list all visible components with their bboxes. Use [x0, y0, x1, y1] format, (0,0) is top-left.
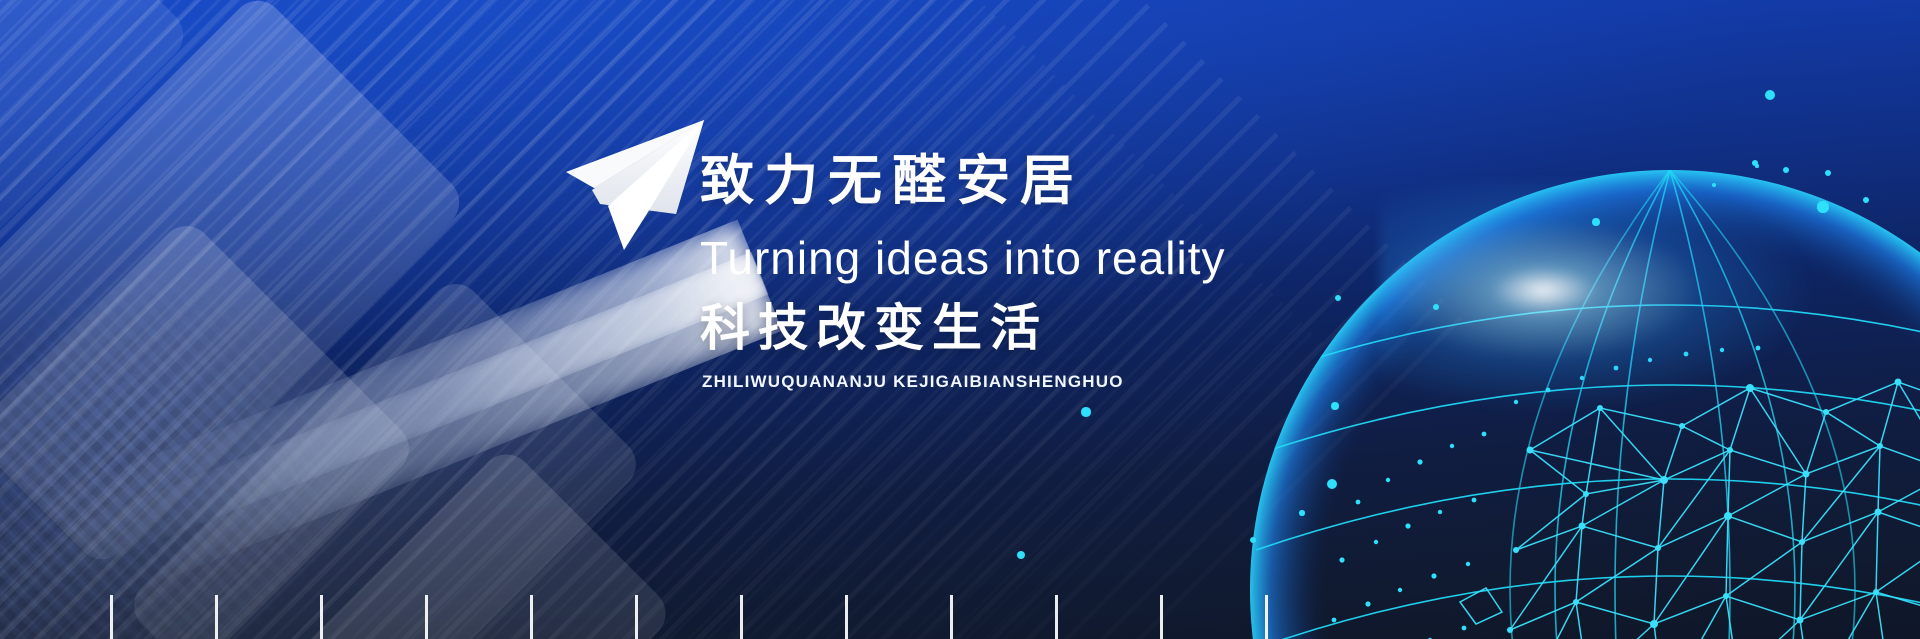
bottom-tick-mark-icon	[740, 595, 743, 639]
floating-particle-icon	[1331, 402, 1338, 409]
floating-particle-icon	[1755, 164, 1758, 167]
bottom-tick-mark-icon	[635, 595, 638, 639]
floating-particle-icon	[1863, 197, 1869, 203]
pinyin-subtitle: ZHILIWUQUANANJU KEJIGAIBIANSHENGHUO	[702, 372, 1340, 392]
floating-particle-icon	[1592, 218, 1599, 225]
hero-banner: 致力无醛安居 Turning ideas into reality 科技改变生活…	[0, 0, 1920, 639]
floating-particle-icon	[1081, 407, 1090, 416]
bottom-tick-mark-icon	[530, 595, 533, 639]
bottom-tick-mark-icon	[110, 595, 113, 639]
bottom-tick-mark-icon	[215, 595, 218, 639]
banner-copy: 致力无醛安居 Turning ideas into reality 科技改变生活…	[700, 150, 1340, 392]
headline-chinese: 致力无醛安居	[700, 150, 1340, 214]
floating-particle-icon	[1250, 537, 1256, 543]
bottom-tick-mark-icon	[320, 595, 323, 639]
floating-particle-icon	[1765, 90, 1775, 100]
bottom-tick-mark-icon	[1055, 595, 1058, 639]
bottom-tick-mark-icon	[950, 595, 953, 639]
floating-particle-icon	[1817, 201, 1828, 212]
floating-particle-icon	[1299, 510, 1304, 515]
subline-chinese: 科技改变生活	[700, 298, 1340, 358]
bottom-tick-mark-icon	[1160, 595, 1163, 639]
bottom-tick-marks	[0, 595, 1920, 639]
tagline-english: Turning ideas into reality	[700, 228, 1340, 289]
bottom-tick-mark-icon	[1265, 595, 1268, 639]
bottom-tick-mark-icon	[425, 595, 428, 639]
floating-particle-icon	[1017, 551, 1025, 559]
bottom-tick-mark-icon	[845, 595, 848, 639]
floating-particle-icon	[1327, 479, 1337, 489]
